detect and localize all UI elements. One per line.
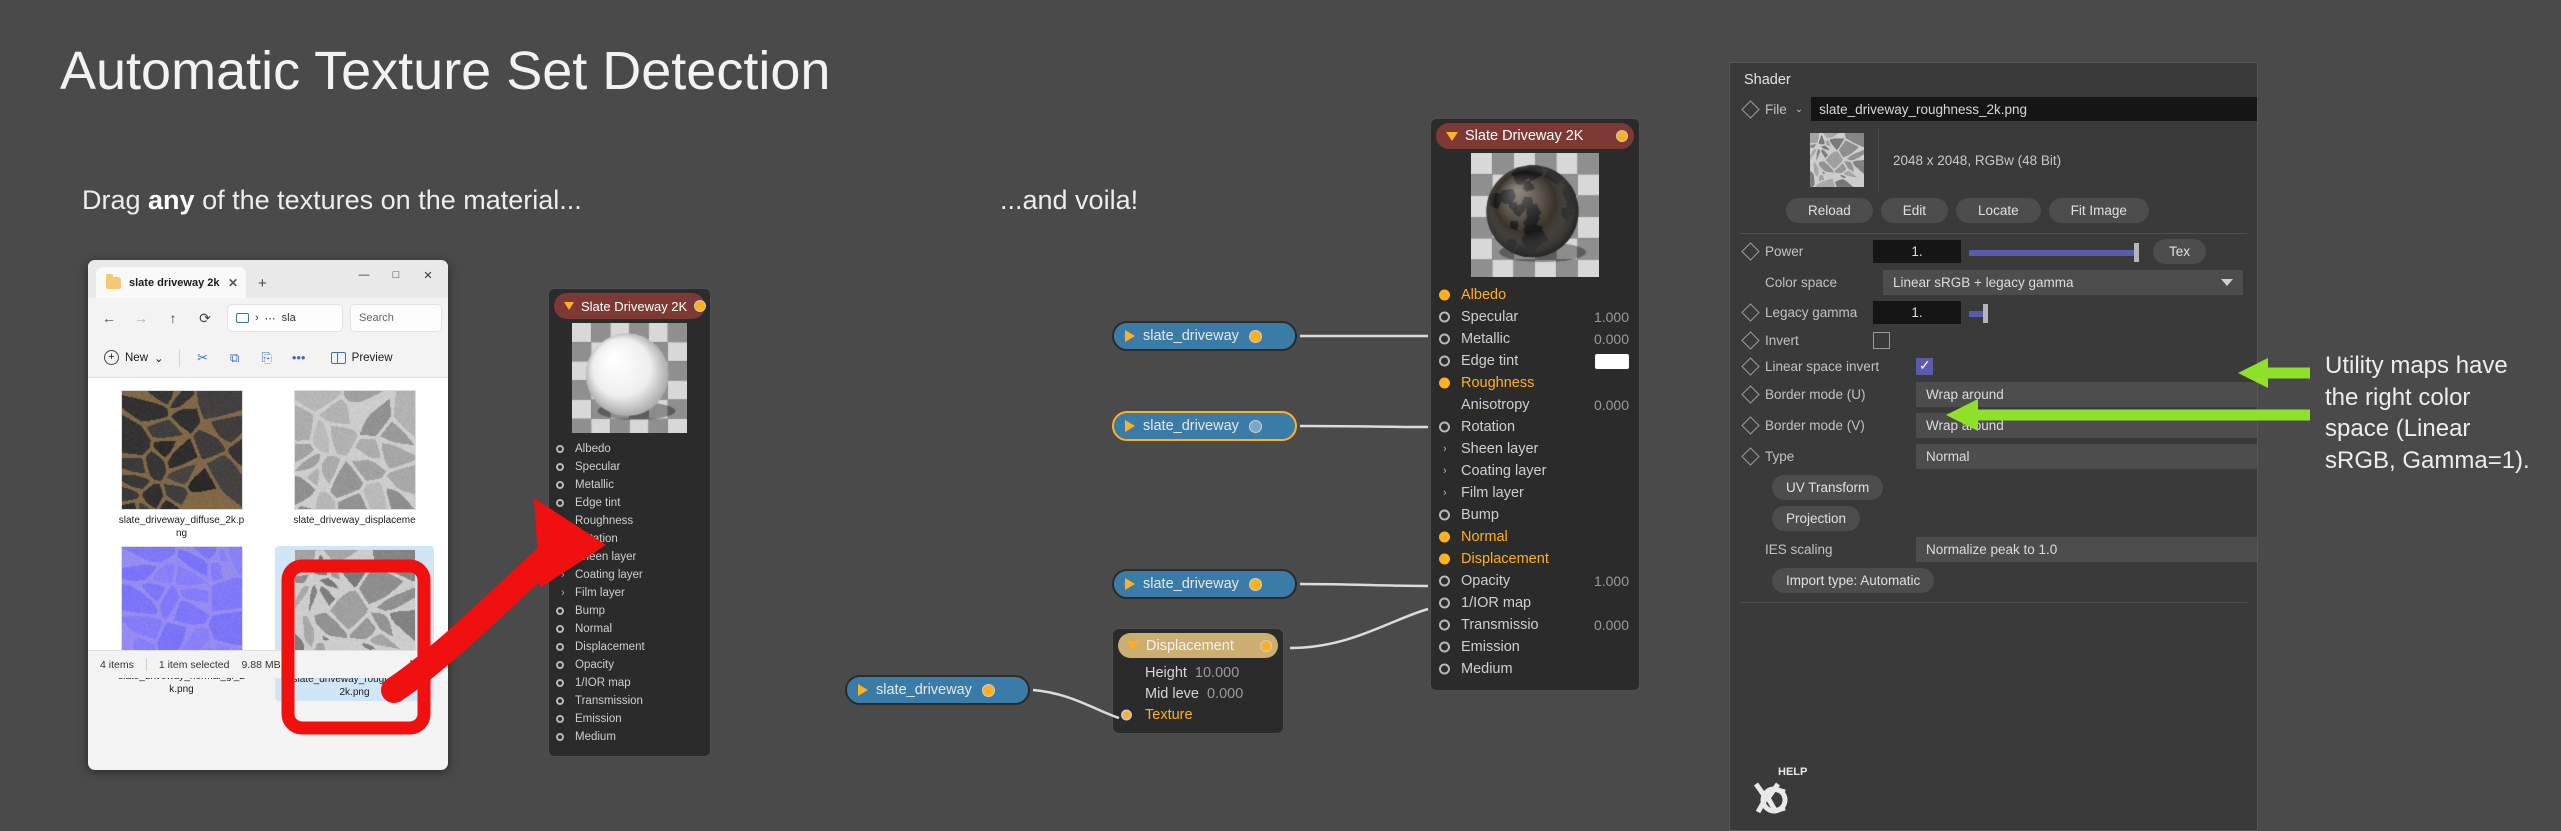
linear-space-invert-row: Linear space invert bbox=[1730, 353, 2257, 379]
new-button[interactable]: + New ⌄ bbox=[98, 344, 170, 372]
status-bar: 4 items 1 item selected 9.88 MB ☰ ☐ bbox=[88, 650, 448, 678]
param-film-layer[interactable]: ›Film layer bbox=[1431, 482, 1639, 504]
tile-view-icon[interactable]: ☐ bbox=[427, 659, 436, 671]
file-name: slate_driveway_diffuse_2k.png bbox=[118, 515, 246, 540]
param-bump[interactable]: Bump bbox=[549, 602, 710, 620]
color-space-row: Color space Linear sRGB + legacy gamma bbox=[1730, 267, 2257, 298]
keyframe-icon[interactable] bbox=[1741, 357, 1759, 375]
input-socket[interactable] bbox=[1439, 422, 1450, 433]
border-mode-u-row: Border mode (U) Wrap around bbox=[1730, 379, 2257, 410]
param-height[interactable]: Height 10.000 bbox=[1113, 662, 1283, 683]
param-label: Albedo bbox=[1461, 287, 1506, 303]
param-label: Opacity bbox=[575, 659, 614, 671]
param-label: Edge tint bbox=[1461, 353, 1518, 369]
param-label: Medium bbox=[575, 731, 616, 743]
param-normal[interactable]: Normal bbox=[1431, 526, 1639, 548]
param-label: Specular bbox=[575, 461, 620, 473]
wire-displacement bbox=[1290, 609, 1428, 648]
type-row: Type Normal bbox=[1730, 441, 2257, 472]
expand-caret-icon[interactable]: › bbox=[561, 587, 565, 599]
displacement-node[interactable]: Displacement Height 10.000 Mid leve 0.00… bbox=[1112, 628, 1284, 734]
voila-label: ...and voila! bbox=[1000, 185, 1138, 216]
material-node-right[interactable]: Slate Driveway 2K AlbedoSpecular1.000Met… bbox=[1430, 118, 1640, 691]
param-normal[interactable]: Normal bbox=[549, 620, 710, 638]
texture-output-socket[interactable] bbox=[1249, 420, 1262, 433]
help-label: HELP bbox=[1778, 766, 1822, 778]
input-socket[interactable] bbox=[556, 499, 564, 507]
param-label: Metallic bbox=[575, 479, 614, 491]
input-socket[interactable] bbox=[556, 625, 564, 633]
preview-button[interactable]: Preview bbox=[331, 352, 393, 364]
param-label: Edge tint bbox=[575, 497, 620, 509]
param-coating-layer[interactable]: ›Coating layer bbox=[1431, 460, 1639, 482]
keyframe-icon[interactable] bbox=[1741, 303, 1759, 321]
param-label: Rotation bbox=[1461, 419, 1515, 435]
param-coating-layer[interactable]: ›Coating layer bbox=[549, 566, 710, 584]
param-label: Emission bbox=[575, 713, 622, 725]
image-info-strip: 2048 x 2048, RGBw (48 Bit) bbox=[1796, 128, 2257, 192]
input-socket[interactable] bbox=[556, 463, 564, 471]
parameter-list: AlbedoSpecularMetallicEdge tintRoughness… bbox=[549, 440, 710, 746]
param-label: Metallic bbox=[1461, 331, 1510, 347]
param-label: Sheen layer bbox=[1461, 441, 1538, 457]
texture-node-displacement[interactable]: slate_driveway bbox=[845, 675, 1030, 705]
copy-icon[interactable]: ⧉ bbox=[221, 344, 249, 372]
input-socket[interactable] bbox=[556, 679, 564, 687]
param-medium[interactable]: Medium bbox=[549, 728, 710, 746]
minimize-icon[interactable]: — bbox=[348, 262, 380, 288]
explorer-tab[interactable]: slate driveway 2k ✕ bbox=[96, 267, 246, 298]
param-label: Transmission bbox=[575, 695, 643, 707]
ies-scaling-row: IES scaling Normalize peak to 1.0 bbox=[1730, 534, 2257, 565]
file-path-input[interactable]: slate_driveway_roughness_2k.png bbox=[1811, 97, 2257, 121]
border-mode-u-select[interactable]: Wrap around bbox=[1916, 382, 2257, 407]
input-socket[interactable] bbox=[1439, 378, 1450, 389]
param-label: Roughness bbox=[1461, 375, 1534, 391]
input-socket[interactable] bbox=[1439, 620, 1450, 631]
param-medium[interactable]: Medium bbox=[1431, 658, 1639, 680]
import-type-button[interactable]: Import type: Automatic bbox=[1772, 568, 1934, 593]
input-socket[interactable] bbox=[556, 733, 564, 741]
input-socket[interactable] bbox=[556, 445, 564, 453]
param-displacement[interactable]: Displacement bbox=[1431, 548, 1639, 570]
ies-scaling-select[interactable]: Normalize peak to 1.0 bbox=[1916, 537, 2257, 562]
param-1-ior-map[interactable]: 1/IOR map bbox=[549, 674, 710, 692]
up-icon[interactable]: ↑ bbox=[158, 304, 188, 332]
border-mode-v-row: Border mode (V) Wrap around bbox=[1730, 410, 2257, 441]
param-metallic[interactable]: Metallic bbox=[549, 476, 710, 494]
shader-panel: Shader File ⌄ slate_driveway_roughness_2… bbox=[1729, 62, 2258, 831]
search-placeholder: Search bbox=[359, 312, 394, 324]
expand-caret-icon[interactable]: › bbox=[561, 569, 565, 581]
node-preview-sphere bbox=[572, 323, 687, 433]
collapse-caret-icon[interactable] bbox=[1446, 132, 1458, 141]
color-space-select[interactable]: Linear sRGB + legacy gamma bbox=[1883, 270, 2243, 295]
new-label: New bbox=[125, 352, 148, 364]
power-input[interactable]: 1. bbox=[1873, 240, 1961, 263]
input-socket[interactable] bbox=[1439, 664, 1450, 675]
preview-label: Preview bbox=[352, 352, 393, 364]
divider bbox=[179, 349, 180, 367]
param-label: Anisotropy bbox=[1461, 397, 1530, 413]
paste-icon[interactable]: ⎘ bbox=[253, 344, 281, 372]
input-socket[interactable] bbox=[1121, 709, 1132, 720]
param-label: Coating layer bbox=[1461, 463, 1546, 479]
param-edge-tint[interactable]: Edge tint bbox=[1431, 350, 1639, 372]
input-socket[interactable] bbox=[1439, 532, 1450, 543]
param-rotation[interactable]: Rotation bbox=[1431, 416, 1639, 438]
address-overflow-icon[interactable]: ⋯ bbox=[265, 312, 276, 325]
uv-transform-button[interactable]: UV Transform bbox=[1772, 475, 1883, 500]
param-value: 0.000 bbox=[1594, 617, 1629, 633]
divider bbox=[1740, 233, 2247, 234]
input-socket[interactable] bbox=[556, 697, 564, 705]
chevron-down-icon: ⌄ bbox=[154, 351, 164, 365]
import-type-row: Import type: Automatic bbox=[1730, 565, 2257, 596]
border-mode-v-label: Border mode (V) bbox=[1765, 418, 1908, 433]
wire-roughness bbox=[1300, 426, 1428, 427]
param-emission[interactable]: Emission bbox=[1431, 636, 1639, 658]
collapse-caret-icon[interactable] bbox=[1127, 641, 1139, 650]
divider bbox=[1740, 602, 2247, 603]
maximize-icon[interactable]: □ bbox=[380, 262, 412, 288]
param-value: 0.000 bbox=[1594, 397, 1629, 413]
param-label: Normal bbox=[575, 623, 612, 635]
param-label: Roughness bbox=[575, 515, 633, 527]
explorer-tab-label: slate driveway 2k bbox=[129, 277, 220, 289]
close-tab-icon[interactable]: ✕ bbox=[228, 276, 238, 290]
keyframe-icon[interactable] bbox=[1741, 447, 1759, 465]
param-metallic[interactable]: Metallic0.000 bbox=[1431, 328, 1639, 350]
page-title: Automatic Texture Set Detection bbox=[60, 40, 830, 102]
selection-count: 1 item selected bbox=[159, 659, 230, 671]
param-label: Specular bbox=[1461, 309, 1518, 325]
param-rotation[interactable]: Rotation bbox=[549, 530, 710, 548]
param-edge-tint[interactable]: Edge tint bbox=[549, 494, 710, 512]
param-label: Film layer bbox=[575, 587, 625, 599]
image-dimensions: 2048 x 2048, RGBw (48 Bit) bbox=[1878, 128, 2257, 192]
texture-output-socket[interactable] bbox=[1249, 330, 1262, 343]
node-title: Slate Driveway 2K bbox=[1465, 128, 1583, 144]
param-value: 1.000 bbox=[1594, 573, 1629, 589]
tex-button[interactable]: Tex bbox=[2153, 239, 2206, 264]
param-label: Medium bbox=[1461, 661, 1513, 677]
subtitle-left: Drag any of the textures on the material… bbox=[82, 185, 582, 216]
input-socket[interactable] bbox=[1439, 290, 1450, 301]
input-socket[interactable] bbox=[556, 607, 564, 615]
list-view-icon[interactable]: ☰ bbox=[409, 659, 418, 671]
explorer-navigation-toolbar: ← → ↑ ⟳ › ⋯ sla Search bbox=[88, 298, 448, 338]
back-icon[interactable]: ← bbox=[94, 304, 124, 332]
power-slider[interactable] bbox=[1969, 247, 2139, 257]
input-socket[interactable] bbox=[556, 481, 564, 489]
param-transmissio[interactable]: Transmissio0.000 bbox=[1431, 614, 1639, 636]
param-label: Sheen layer bbox=[575, 551, 636, 563]
expand-caret-icon[interactable]: › bbox=[561, 551, 565, 563]
octane-logo-icon bbox=[1752, 778, 1810, 820]
param-label: Bump bbox=[1461, 507, 1499, 523]
locate-button[interactable]: Locate bbox=[1956, 198, 2041, 223]
param-specular[interactable]: Specular bbox=[549, 458, 710, 476]
param-label: Rotation bbox=[575, 533, 618, 545]
subtitle-bold: any bbox=[148, 185, 195, 215]
param-label: Coating layer bbox=[575, 569, 643, 581]
expand-caret-icon[interactable]: › bbox=[1443, 487, 1447, 499]
param-label: Normal bbox=[1461, 529, 1508, 545]
plus-icon: + bbox=[104, 350, 119, 365]
keyframe-icon[interactable] bbox=[1741, 242, 1759, 260]
window-controls: — □ ✕ bbox=[348, 262, 444, 288]
address-path: sla bbox=[282, 312, 296, 324]
param-label: Height bbox=[1145, 665, 1187, 681]
color-space-value: Linear sRGB + legacy gamma bbox=[1893, 275, 2073, 290]
edge-tint-swatch[interactable] bbox=[1595, 354, 1629, 369]
texture-node-label: slate_driveway bbox=[1143, 328, 1239, 344]
invert-checkbox[interactable] bbox=[1873, 332, 1890, 349]
wire-texture-input bbox=[1033, 690, 1119, 718]
refresh-icon[interactable]: ⟳ bbox=[190, 304, 220, 332]
file-thumbnail-displacement bbox=[294, 390, 416, 510]
param-anisotropy[interactable]: Anisotropy0.000 bbox=[1431, 394, 1639, 416]
edit-button[interactable]: Edit bbox=[1881, 198, 1948, 223]
param-transmission[interactable]: Transmission bbox=[549, 692, 710, 710]
address-bar[interactable]: › ⋯ sla bbox=[227, 304, 343, 332]
legacy-gamma-slider[interactable] bbox=[1969, 308, 2119, 318]
material-node-left[interactable]: Slate Driveway 2K AlbedoSpecularMetallic… bbox=[548, 288, 711, 757]
keyframe-icon[interactable] bbox=[1741, 100, 1759, 118]
slider-track bbox=[1969, 250, 2139, 256]
input-socket[interactable] bbox=[1439, 510, 1450, 521]
more-options-icon[interactable]: ••• bbox=[285, 344, 313, 372]
border-mode-u-label: Border mode (U) bbox=[1765, 387, 1908, 402]
file-list: slate_driveway_diffuse_2k.png slate_driv… bbox=[88, 378, 448, 678]
uv-transform-row: UV Transform bbox=[1730, 472, 2257, 503]
image-thumbnail bbox=[1810, 133, 1864, 187]
texture-node-label: slate_driveway bbox=[1143, 418, 1239, 434]
file-thumbnail-diffuse bbox=[121, 390, 243, 510]
play-icon[interactable] bbox=[1125, 578, 1135, 590]
linear-space-invert-label: Linear space invert bbox=[1765, 359, 1908, 374]
explorer-command-bar: + New ⌄ ✂ ⧉ ⎘ ••• Preview bbox=[88, 338, 448, 378]
texture-node-label: slate_driveway bbox=[1143, 576, 1239, 592]
chevron-down-icon[interactable]: ⌄ bbox=[1795, 104, 1803, 115]
forward-icon[interactable]: → bbox=[126, 304, 156, 332]
input-socket[interactable] bbox=[556, 661, 564, 669]
projection-button[interactable]: Projection bbox=[1772, 506, 1860, 531]
texture-output-socket[interactable] bbox=[1249, 578, 1262, 591]
fit-image-button[interactable]: Fit Image bbox=[2049, 198, 2149, 223]
node-title: Displacement bbox=[1146, 638, 1234, 654]
view-toggles: ☰ ☐ bbox=[409, 659, 436, 671]
keyframe-icon[interactable] bbox=[1741, 331, 1759, 349]
address-separator: › bbox=[255, 312, 259, 324]
projection-row: Projection bbox=[1730, 503, 2257, 534]
input-socket[interactable] bbox=[1439, 312, 1450, 323]
file-thumbnail-normal bbox=[121, 546, 243, 666]
folder-icon bbox=[106, 277, 121, 289]
node-header[interactable]: Displacement bbox=[1118, 633, 1278, 658]
type-label: Type bbox=[1765, 449, 1908, 464]
panel-title: Shader bbox=[1730, 63, 2257, 94]
node-output-socket[interactable] bbox=[694, 300, 706, 312]
legacy-gamma-row: Legacy gamma 1. bbox=[1730, 298, 2257, 327]
param-albedo[interactable]: Albedo bbox=[549, 440, 710, 458]
node-output-socket[interactable] bbox=[1616, 130, 1628, 142]
color-space-label: Color space bbox=[1765, 275, 1875, 290]
param-sheen-layer[interactable]: ›Sheen layer bbox=[1431, 438, 1639, 460]
param-label: Mid leve bbox=[1145, 686, 1199, 702]
invert-row: Invert bbox=[1730, 327, 2257, 353]
ies-scaling-label: IES scaling bbox=[1765, 542, 1908, 557]
param-film-layer[interactable]: ›Film layer bbox=[549, 584, 710, 602]
power-label: Power bbox=[1765, 244, 1865, 259]
node-output-socket[interactable] bbox=[1260, 640, 1272, 652]
param-mid-level[interactable]: Mid leve 0.000 bbox=[1113, 683, 1283, 704]
invert-label: Invert bbox=[1765, 333, 1865, 348]
param-opacity[interactable]: Opacity1.000 bbox=[1431, 570, 1639, 592]
input-socket[interactable] bbox=[556, 643, 564, 651]
chevron-down-icon[interactable] bbox=[2221, 279, 2233, 286]
input-socket[interactable] bbox=[1439, 576, 1450, 587]
param-value: 10.000 bbox=[1195, 665, 1239, 681]
subtitle-post: of the textures on the material... bbox=[195, 185, 582, 215]
input-socket[interactable] bbox=[1439, 356, 1450, 367]
collapse-caret-icon[interactable] bbox=[564, 302, 574, 310]
cut-icon[interactable]: ✂ bbox=[189, 344, 217, 372]
param-1-ior-map[interactable]: 1/IOR map bbox=[1431, 592, 1639, 614]
slide-canvas: Automatic Texture Set Detection Drag any… bbox=[0, 0, 2561, 831]
param-label: Emission bbox=[1461, 639, 1520, 655]
new-tab-icon[interactable]: + bbox=[258, 275, 267, 292]
slider-knob[interactable] bbox=[2134, 243, 2139, 262]
power-row: Power 1. Tex bbox=[1730, 236, 2257, 267]
this-pc-icon bbox=[236, 313, 249, 323]
selection-size: 9.88 MB bbox=[241, 659, 280, 671]
param-value: 0.000 bbox=[1207, 686, 1243, 702]
divider bbox=[293, 658, 294, 671]
input-socket[interactable] bbox=[1439, 642, 1450, 653]
list-item[interactable]: slate_driveway_diffuse_2k.png bbox=[102, 390, 261, 540]
search-input[interactable]: Search bbox=[350, 304, 442, 332]
param-value: 0.000 bbox=[1594, 331, 1629, 347]
param-label: Transmissio bbox=[1461, 617, 1539, 633]
preview-icon bbox=[331, 352, 346, 364]
param-bump[interactable]: Bump bbox=[1431, 504, 1639, 526]
slider-knob[interactable] bbox=[1983, 304, 1988, 323]
param-label: Film layer bbox=[1461, 485, 1524, 501]
node-header[interactable]: Slate Driveway 2K bbox=[554, 293, 705, 319]
help-logo[interactable]: HELP bbox=[1752, 766, 1822, 820]
param-label: Opacity bbox=[1461, 573, 1510, 589]
param-label: Displacement bbox=[575, 641, 645, 653]
expand-caret-icon[interactable]: › bbox=[1443, 465, 1447, 477]
parameter-list: AlbedoSpecular1.000Metallic0.000Edge tin… bbox=[1431, 284, 1639, 680]
subtitle-pre: Drag bbox=[82, 185, 148, 215]
node-preview-sphere bbox=[1471, 153, 1599, 277]
param-sheen-layer[interactable]: ›Sheen layer bbox=[549, 548, 710, 566]
wire-normal bbox=[1300, 584, 1428, 586]
keyframe-icon[interactable] bbox=[1741, 416, 1759, 434]
item-count: 4 items bbox=[100, 659, 134, 671]
file-name: slate_driveway_displaceme bbox=[291, 515, 419, 528]
file-explorer-window[interactable]: slate driveway 2k ✕ + — □ ✕ ← → ↑ ⟳ › ⋯ … bbox=[88, 260, 448, 770]
param-label: 1/IOR map bbox=[575, 677, 631, 689]
param-label: 1/IOR map bbox=[1461, 595, 1531, 611]
param-label: Texture bbox=[1145, 707, 1193, 723]
input-socket[interactable] bbox=[1439, 598, 1450, 609]
input-socket[interactable] bbox=[556, 715, 564, 723]
file-label: File bbox=[1765, 102, 1787, 117]
play-icon[interactable] bbox=[858, 684, 868, 696]
texture-output-socket[interactable] bbox=[982, 684, 995, 697]
reload-button[interactable]: Reload bbox=[1786, 198, 1873, 223]
keyframe-icon[interactable] bbox=[1741, 385, 1759, 403]
param-opacity[interactable]: Opacity bbox=[549, 656, 710, 674]
texture-node-albedo[interactable]: slate_driveway bbox=[1112, 321, 1297, 351]
param-displacement[interactable]: Displacement bbox=[549, 638, 710, 656]
param-emission[interactable]: Emission bbox=[549, 710, 710, 728]
texture-node-roughness[interactable]: slate_driveway bbox=[1112, 411, 1297, 441]
explorer-titlebar: slate driveway 2k ✕ + — □ ✕ bbox=[88, 260, 448, 298]
node-title: Slate Driveway 2K bbox=[581, 299, 687, 314]
param-roughness[interactable]: Roughness bbox=[1431, 372, 1639, 394]
expand-caret-icon[interactable]: › bbox=[1443, 443, 1447, 455]
input-socket[interactable] bbox=[556, 535, 564, 543]
param-label: Displacement bbox=[1461, 551, 1549, 567]
node-header[interactable]: Slate Driveway 2K bbox=[1436, 123, 1634, 149]
type-select[interactable]: Normal bbox=[1916, 444, 2257, 469]
param-value: 1.000 bbox=[1594, 309, 1629, 325]
legacy-gamma-label: Legacy gamma bbox=[1765, 305, 1865, 320]
input-socket[interactable] bbox=[1439, 334, 1450, 345]
play-icon[interactable] bbox=[1125, 420, 1135, 432]
input-socket[interactable] bbox=[556, 517, 564, 525]
border-mode-v-select[interactable]: Wrap around bbox=[1916, 413, 2257, 438]
legacy-gamma-input[interactable]: 1. bbox=[1873, 301, 1961, 324]
play-icon[interactable] bbox=[1125, 330, 1135, 342]
param-label: Bump bbox=[575, 605, 605, 617]
param-texture[interactable]: Texture bbox=[1113, 704, 1283, 725]
divider bbox=[146, 658, 147, 671]
file-row: File ⌄ slate_driveway_roughness_2k.png bbox=[1730, 94, 2257, 124]
list-item[interactable]: slate_driveway_displaceme bbox=[275, 390, 434, 540]
file-action-buttons: Reload Edit Locate Fit Image bbox=[1730, 192, 2257, 231]
param-specular[interactable]: Specular1.000 bbox=[1431, 306, 1639, 328]
param-label: Albedo bbox=[575, 443, 611, 455]
texture-node-normal[interactable]: slate_driveway bbox=[1112, 569, 1297, 599]
close-window-icon[interactable]: ✕ bbox=[412, 262, 444, 288]
param-albedo[interactable]: Albedo bbox=[1431, 284, 1639, 306]
linear-space-invert-checkbox[interactable] bbox=[1916, 358, 1933, 375]
param-roughness[interactable]: Roughness bbox=[549, 512, 710, 530]
annotation-text: Utility maps have the right color space … bbox=[2325, 350, 2540, 477]
texture-node-label: slate_driveway bbox=[876, 682, 972, 698]
input-socket[interactable] bbox=[1439, 554, 1450, 565]
